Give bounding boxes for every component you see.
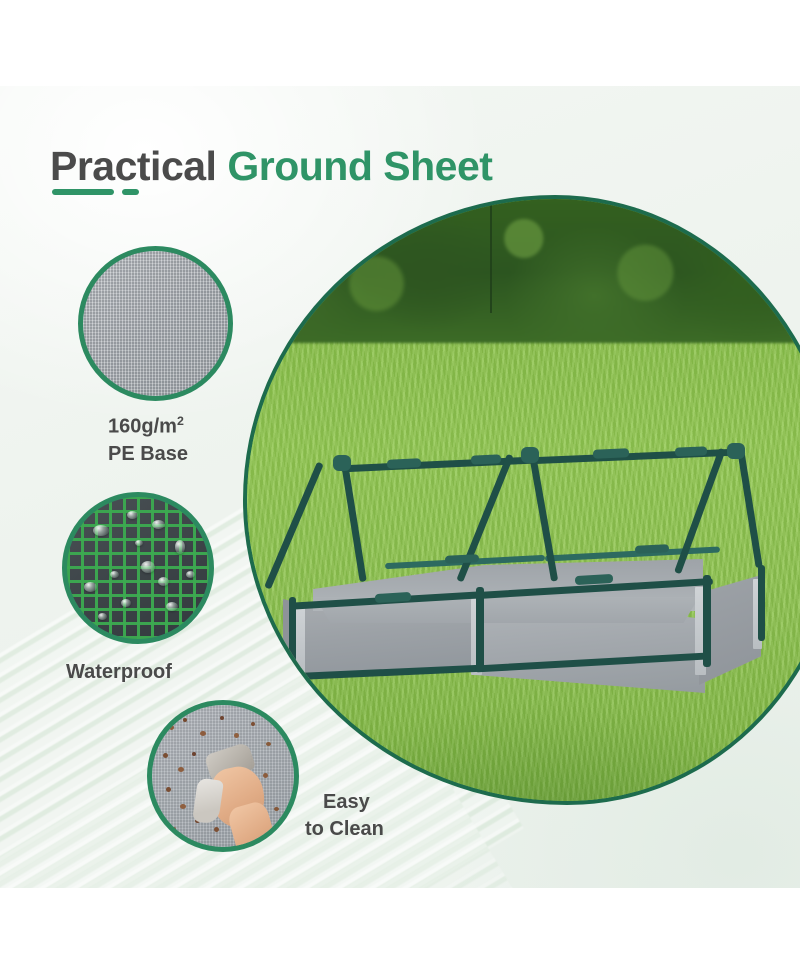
water-drop [121,599,131,607]
caption-line-waterproof: Waterproof [66,659,172,686]
water-drop [141,561,155,573]
feature-caption-pe-base: 160g/m2 PE Base [108,413,188,468]
title-part-ground-sheet: Ground Sheet [227,143,492,189]
frame-connector [333,455,351,471]
title-part-practical: Practical [50,143,216,189]
water-drop [93,525,109,536]
water-drop [127,511,138,519]
frame-rafter [737,448,763,568]
underline-long-dash [52,189,114,195]
water-drop [135,540,143,546]
frame-connector [521,447,539,463]
frame-corner-post [476,587,484,671]
water-drop [98,613,107,620]
frame-connector [727,443,745,459]
water-droplets [67,497,209,639]
water-drop [110,571,119,578]
water-drop [158,577,169,586]
caption-line-material: PE Base [108,441,188,468]
water-drop [175,540,185,554]
frame-corner-post [289,597,296,675]
water-drop [166,602,178,611]
feature-caption-easy-to-clean: Easy to Clean [305,789,384,843]
underline-short-dash [122,189,139,195]
product-photo [243,195,800,805]
frame-connector [387,458,421,469]
frame-corner-post [703,575,711,667]
water-droplets-mesh-swatch-icon [62,492,214,644]
frame-connector [593,448,629,458]
frame-rafter [529,454,558,581]
feature-caption-waterproof: Waterproof [66,659,172,686]
caption-line-easy: Easy [323,789,384,816]
frame-corner-post [758,565,765,641]
caption-line-to-clean: to Clean [305,816,384,843]
frame-rafter [341,462,367,582]
frame-rafter [674,448,726,574]
velcro-strap [295,605,305,673]
caption-superscript: 2 [177,414,184,428]
tree-trunk [490,195,492,313]
water-drop [84,582,97,592]
water-drop [186,571,195,578]
water-drop [152,520,165,529]
hedge-background [243,195,800,343]
infographic-panel: Practical Ground Sheet 160g/m2 PE Base W… [0,86,800,888]
page-title: Practical Ground Sheet [50,143,492,190]
photo-scene [247,199,800,801]
title-underline [52,189,139,195]
caption-line-weight: 160g/m2 [108,413,188,441]
frame-connector [471,454,501,464]
hand-wiping-cloth-swatch-icon [147,700,299,852]
raised-bed-product [275,447,795,747]
frame-connector [675,446,707,456]
pe-fabric-swatch-icon [78,246,233,401]
